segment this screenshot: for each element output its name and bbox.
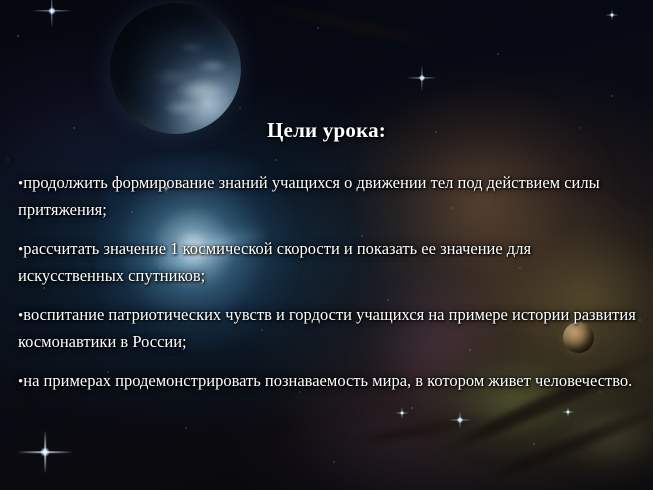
slide-content: Цели урока: •продолжить формирование зна… <box>0 0 653 490</box>
slide-title: Цели урока: <box>0 118 653 143</box>
list-item-text: на примерах продемонстрировать познаваем… <box>23 371 632 390</box>
presentation-slide: Цели урока: •продолжить формирование зна… <box>0 0 653 490</box>
objectives-list: •продолжить формирование знаний учащихся… <box>18 170 636 395</box>
list-item: •рассчитать значение 1 космической скоро… <box>18 236 636 289</box>
list-item: •продолжить формирование знаний учащихся… <box>18 170 636 223</box>
list-item-text: продолжить формирование знаний учащихся … <box>18 173 600 219</box>
list-item: •на примерах продемонстрировать познавае… <box>18 368 636 395</box>
list-item-text: рассчитать значение 1 космической скорос… <box>18 239 531 285</box>
list-item: •воспитание патриотических чувств и горд… <box>18 302 636 355</box>
list-item-text: воспитание патриотических чувств и гордо… <box>18 305 636 351</box>
